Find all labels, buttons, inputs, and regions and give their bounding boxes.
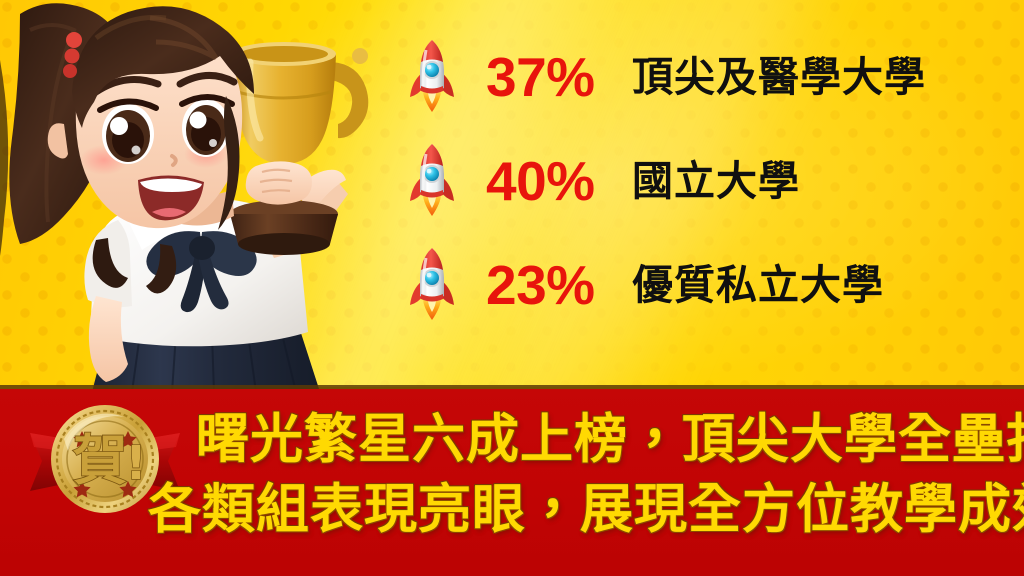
gripping-hand (246, 161, 312, 204)
stat-percent: 37% (486, 50, 626, 105)
stats-list: 37% 頂尖及醫學大學 40% 國立大學 (404, 44, 1004, 318)
medal-character: 賀 (73, 429, 127, 492)
stat-label: 頂尖及醫學大學 (632, 57, 926, 98)
stat-percent: 23% (486, 258, 626, 313)
headline-banner: 賀 ! 曙光繁星六成上榜，頂尖大學全壘打 各類組表現亮眼，展現全方位教學成效 (0, 389, 1024, 576)
rocket-icon (404, 246, 460, 324)
rocket-icon (404, 38, 460, 116)
stat-label: 國立大學 (632, 161, 800, 202)
stat-percent: 40% (486, 154, 626, 209)
rocket-icon (404, 142, 460, 220)
stat-row: 23% 優質私立大學 (404, 252, 1004, 318)
banner-line-1: 曙光繁星六成上榜，頂尖大學全壘打 (140, 405, 1024, 475)
promo-poster: 37% 頂尖及醫學大學 40% 國立大學 (0, 0, 1024, 576)
student-illustration (0, 0, 400, 392)
stat-row: 37% 頂尖及醫學大學 (404, 44, 1004, 110)
banner-headline: 曙光繁星六成上榜，頂尖大學全壘打 各類組表現亮眼，展現全方位教學成效 (140, 405, 1024, 545)
stat-row: 40% 國立大學 (404, 148, 1004, 214)
banner-line-2: 各類組表現亮眼，展現全方位教學成效 (140, 475, 1024, 545)
stat-label: 優質私立大學 (632, 265, 884, 306)
